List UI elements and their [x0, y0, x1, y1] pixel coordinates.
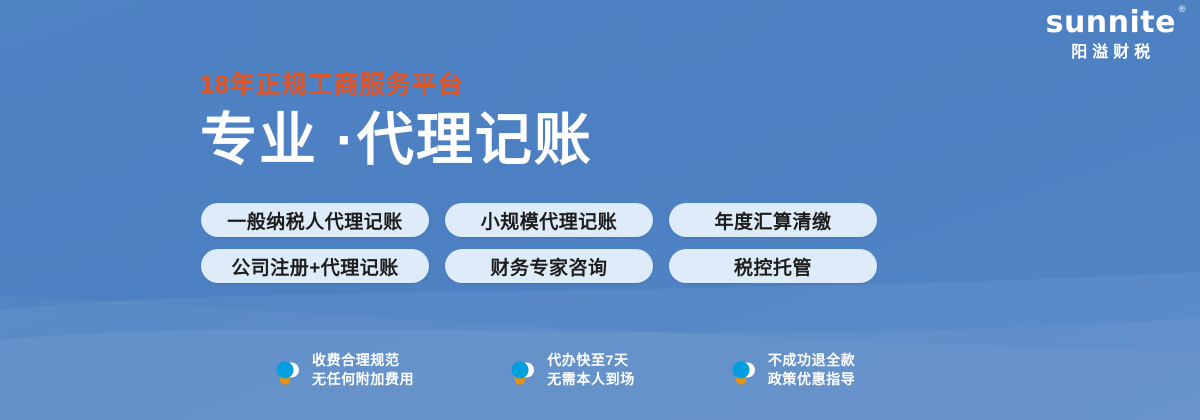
feature-text: 不成功退全款 政策优惠指导 — [768, 351, 856, 389]
service-pill[interactable]: 一般纳税人代理记账 — [201, 203, 429, 237]
registered-trademark-icon: ® — [1178, 6, 1188, 15]
logo-chinese-name: 阳溢财税 — [1046, 45, 1176, 61]
logo-wordmark-text: sunnite — [1046, 5, 1176, 40]
feature-text: 代办快至7天 无需本人到场 — [547, 351, 635, 389]
service-pill[interactable]: 年度汇算清缴 — [669, 203, 877, 237]
logo-wordmark: sunnite® — [1046, 8, 1176, 38]
brand-logo[interactable]: sunnite® 阳溢财税 — [1046, 8, 1176, 61]
service-pill[interactable]: 小规模代理记账 — [445, 203, 653, 237]
service-pill[interactable]: 税控托管 — [669, 249, 877, 283]
eyebrow-text: 18年正规工商服务平台 — [200, 72, 593, 100]
headline-block: 18年正规工商服务平台 专业 ·代理记账 — [200, 72, 593, 171]
promo-banner: sunnite® 阳溢财税 18年正规工商服务平台 专业 ·代理记账 一般纳税人… — [0, 0, 1200, 420]
feature-item: 收费合理规范 无任何附加费用 — [272, 351, 414, 389]
dual-circle-icon — [272, 354, 302, 386]
feature-item: 代办快至7天 无需本人到场 — [507, 351, 635, 389]
service-pill[interactable]: 公司注册+代理记账 — [201, 249, 429, 283]
feature-line-1: 不成功退全款 — [768, 351, 856, 370]
feature-item: 不成功退全款 政策优惠指导 — [728, 351, 856, 389]
feature-line-1: 收费合理规范 — [312, 351, 414, 370]
dual-circle-icon — [728, 354, 758, 386]
service-pill[interactable]: 财务专家咨询 — [445, 249, 653, 283]
dual-circle-icon — [507, 354, 537, 386]
feature-list: 收费合理规范 无任何附加费用 代办快至7天 无需本人到场 不成功退全款 — [272, 351, 855, 389]
feature-line-2: 无任何附加费用 — [312, 370, 414, 389]
feature-line-2: 无需本人到场 — [547, 370, 635, 389]
feature-line-2: 政策优惠指导 — [768, 370, 856, 389]
feature-text: 收费合理规范 无任何附加费用 — [312, 351, 414, 389]
page-title: 专业 ·代理记账 — [200, 109, 593, 172]
service-pill-group: 一般纳税人代理记账 小规模代理记账 年度汇算清缴 公司注册+代理记账 财务专家咨… — [201, 203, 877, 283]
feature-line-1: 代办快至7天 — [547, 351, 635, 370]
